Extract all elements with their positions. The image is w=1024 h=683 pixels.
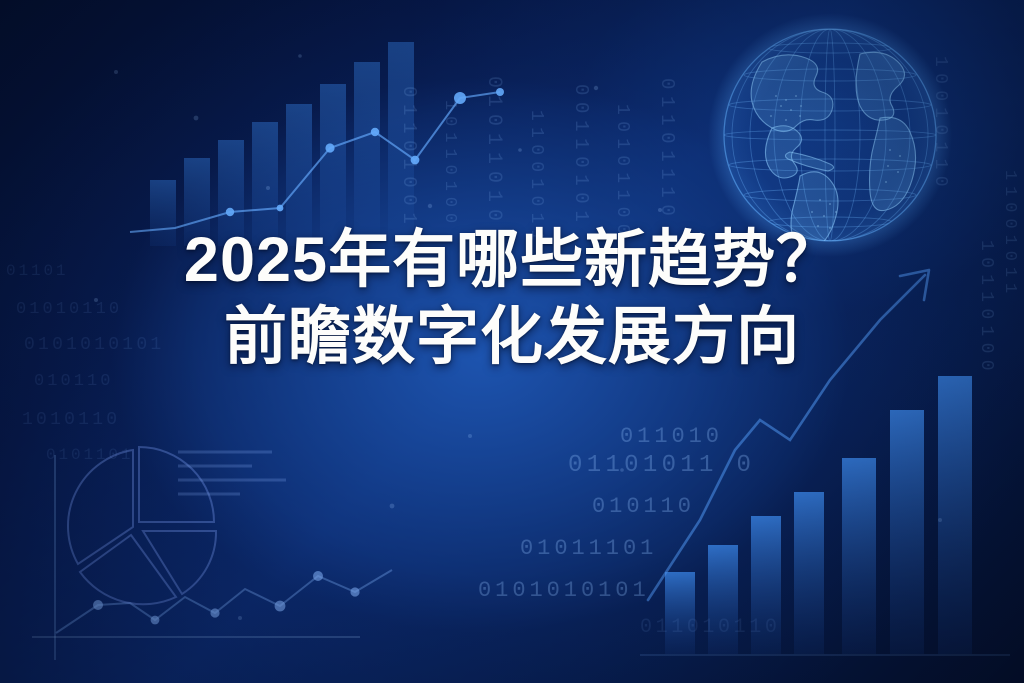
- binary-column: 10010110: [930, 56, 950, 231]
- binary-row: 0101010101: [478, 578, 650, 603]
- title-line-2: 前瞻数字化发展方向: [0, 299, 1024, 376]
- binary-row: 0101101: [46, 446, 133, 464]
- binary-row: 01011101: [520, 536, 657, 561]
- binary-row: 1010110: [22, 410, 120, 430]
- title-line-1: 2025年有哪些新趋势？: [0, 222, 1024, 299]
- page-title: 2025年有哪些新趋势？ 前瞻数字化发展方向: [0, 222, 1024, 376]
- poster-canvas: 01010110 0101010101 010110 1010110 01011…: [0, 0, 1024, 683]
- binary-row: 010110: [592, 494, 695, 519]
- binary-row: 01101011 0: [568, 452, 755, 479]
- binary-row: 011010: [620, 424, 723, 449]
- binary-row: 011010110: [640, 616, 780, 639]
